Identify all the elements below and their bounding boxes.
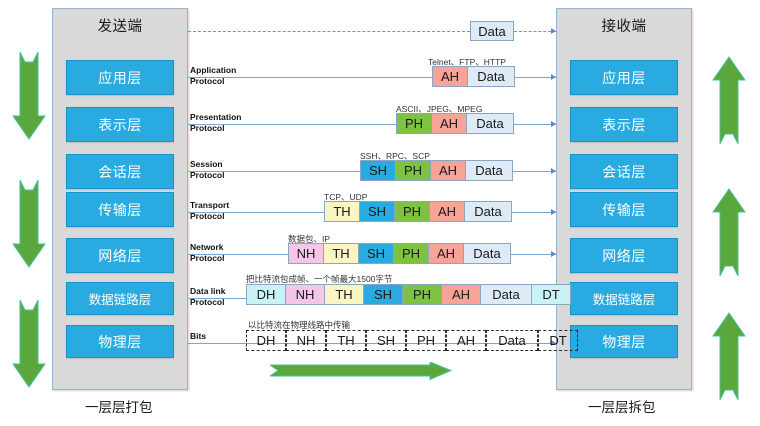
receiver-layer-presentation[interactable]: 表示层 (570, 107, 678, 142)
pdu-cell-data: Data (467, 66, 515, 87)
top-virtual-link-line (188, 31, 470, 32)
pdu-cell-ph-label: PH (405, 116, 423, 131)
encapsulation-arrow-down-3 (12, 300, 46, 388)
pdu-cell-sh: SH (359, 201, 395, 222)
pdu-cell-ah: AH (432, 66, 468, 87)
sender-layer-session[interactable]: 会话层 (66, 154, 174, 189)
pdu-cell-ph: PH (394, 201, 430, 222)
physical-bits-label: Bits (190, 331, 206, 342)
pdu-cell-data-label: Data (492, 287, 519, 302)
application-pdu-row: AH Data (432, 66, 514, 87)
pdu-cell-data: Data (464, 201, 512, 222)
pdu-cell-dh: DH (246, 330, 286, 351)
transport-protocol-label: Transport Protocol (190, 200, 229, 221)
receiver-layer-application-label: 应用层 (602, 68, 646, 88)
pdu-cell-th: TH (326, 330, 366, 351)
top-virtual-link-arrowhead (551, 28, 556, 34)
pdu-cell-data: Data (463, 243, 511, 264)
sender-layer-physical[interactable]: 物理层 (66, 325, 174, 358)
sender-layer-presentation-label: 表示层 (98, 115, 142, 135)
pdu-cell-ph: PH (406, 330, 446, 351)
pdu-cell-dh-label: DH (257, 287, 276, 302)
pdu-cell-data: Data (466, 113, 514, 134)
network-protocol-arrowhead (551, 251, 556, 257)
receiver-caption: 一层层拆包 (588, 396, 656, 416)
presentation-protocol-label: Presentation Protocol (190, 112, 242, 133)
pdu-cell-ah-label: AH (439, 163, 457, 178)
datalink-pdu-row: DH NH TH SH PH AH Data DT (246, 284, 570, 305)
pdu-cell-ah: AH (441, 284, 481, 305)
physical-bits-line1: Bits (190, 331, 206, 342)
top-data-label: Data (478, 24, 505, 39)
pdu-cell-ph-label: PH (413, 287, 431, 302)
transport-protocol-line2: Protocol (190, 211, 229, 222)
pdu-cell-th-label: TH (337, 333, 354, 348)
pdu-cell-sh: SH (358, 243, 394, 264)
pdu-cell-ph: PH (396, 113, 432, 134)
top-virtual-link-line-right (514, 31, 556, 32)
pdu-cell-sh-label: SH (367, 246, 385, 261)
datalink-protocol-label: Data link Protocol (190, 286, 225, 307)
pdu-cell-data-label: Data (473, 246, 500, 261)
receiver-layer-presentation-label: 表示层 (602, 115, 646, 135)
pdu-cell-dh-label: DH (257, 333, 276, 348)
transport-protocol-arrowhead (551, 209, 556, 215)
datalink-annotation: 把比特流包成帧、一个帧最大1500字节 (246, 274, 392, 284)
pdu-cell-data-label: Data (474, 204, 501, 219)
pdu-cell-data: Data (465, 160, 513, 181)
sender-title: 发送端 (53, 15, 187, 36)
pdu-cell-nh-label: NH (297, 333, 316, 348)
receiver-layer-datalink[interactable]: 数据链路层 (570, 282, 678, 315)
pdu-cell-ah: AH (430, 160, 466, 181)
pdu-cell-ph-label: PH (404, 163, 422, 178)
top-data-box: Data (470, 21, 514, 41)
transmission-direction-arrow (270, 362, 452, 380)
network-protocol-line1: Network (190, 242, 224, 253)
pdu-cell-ph: PH (402, 284, 442, 305)
pdu-cell-th-label: TH (335, 287, 352, 302)
receiver-layer-session-label: 会话层 (602, 162, 646, 182)
pdu-cell-sh: SH (366, 330, 406, 351)
pdu-cell-nh: NH (288, 243, 324, 264)
session-pdu-row: SH PH AH Data (360, 160, 512, 181)
pdu-cell-ah-label: AH (441, 69, 459, 84)
pdu-cell-ah-label: AH (452, 287, 470, 302)
receiver-layer-datalink-label: 数据链路层 (593, 289, 656, 308)
network-protocol-label: Network Protocol (190, 242, 224, 263)
pdu-cell-nh-label: NH (296, 287, 315, 302)
application-protocol-line2: Protocol (190, 76, 236, 87)
sender-layer-presentation[interactable]: 表示层 (66, 107, 174, 142)
pdu-cell-sh: SH (360, 160, 396, 181)
pdu-cell-ah-label: AH (438, 204, 456, 219)
sender-layer-network-label: 网络层 (98, 246, 142, 266)
pdu-cell-nh: NH (285, 284, 325, 305)
encapsulation-arrow-down-1 (12, 52, 46, 140)
presentation-protocol-line2: Protocol (190, 123, 242, 134)
sender-layer-physical-label: 物理层 (98, 332, 142, 352)
pdu-cell-th: TH (323, 243, 359, 264)
receiver-layer-session[interactable]: 会话层 (570, 154, 678, 189)
pdu-cell-th-label: TH (332, 246, 349, 261)
pdu-cell-ah: AH (446, 330, 486, 351)
session-protocol-line1: Session (190, 159, 224, 170)
pdu-cell-ah-label: AH (437, 246, 455, 261)
sender-layer-application-label: 应用层 (98, 68, 142, 88)
application-protocol-line1: Application (190, 65, 236, 76)
pdu-cell-nh-label: NH (297, 246, 316, 261)
pdu-cell-dt-label: DT (549, 333, 566, 348)
pdu-cell-ah-label: AH (440, 116, 458, 131)
network-protocol-line2: Protocol (190, 253, 224, 264)
datalink-protocol-line1: Data link (190, 286, 225, 297)
pdu-cell-ph: PH (395, 160, 431, 181)
pdu-cell-ah-label: AH (457, 333, 475, 348)
decapsulation-arrow-up-3 (712, 312, 746, 400)
decapsulation-arrow-up-2 (712, 188, 746, 276)
decapsulation-arrow-up-1 (712, 56, 746, 144)
receiver-layer-physical-label: 物理层 (602, 332, 646, 352)
pdu-cell-th: TH (324, 284, 364, 305)
pdu-cell-data-label: Data (476, 116, 503, 131)
sender-layer-datalink[interactable]: 数据链路层 (66, 282, 174, 315)
receiver-layer-physical[interactable]: 物理层 (570, 325, 678, 358)
sender-layer-application[interactable]: 应用层 (66, 60, 174, 95)
pdu-cell-ah: AH (429, 201, 465, 222)
session-protocol-arrowhead (551, 168, 556, 174)
pdu-cell-sh-label: SH (369, 163, 387, 178)
session-protocol-label: Session Protocol (190, 159, 224, 180)
osi-encapsulation-diagram: 发送端 应用层 表示层 会话层 传输层 网络层 数据链路层 物理层 一层层打包 … (0, 0, 760, 426)
pdu-cell-data-label: Data (475, 163, 502, 178)
pdu-cell-ph-label: PH (402, 246, 420, 261)
pdu-cell-ph: PH (393, 243, 429, 264)
pdu-cell-data-label: Data (498, 333, 525, 348)
datalink-protocol-line2: Protocol (190, 297, 225, 308)
pdu-cell-nh: NH (286, 330, 326, 351)
pdu-cell-sh-label: SH (377, 333, 395, 348)
pdu-cell-dt-label: DT (542, 287, 559, 302)
pdu-cell-ah: AH (431, 113, 467, 134)
sender-layer-datalink-label: 数据链路层 (89, 289, 152, 308)
pdu-cell-sh: SH (363, 284, 403, 305)
encapsulation-arrow-down-2 (12, 180, 46, 268)
session-protocol-line2: Protocol (190, 170, 224, 181)
pdu-cell-dh: DH (246, 284, 286, 305)
receiver-layer-transport-label: 传输层 (602, 200, 646, 220)
physical-annotation: 以比特流在物理线路中传输 (248, 320, 350, 330)
pdu-cell-data: Data (480, 284, 532, 305)
receiver-title: 接收端 (557, 15, 691, 36)
sender-layer-transport-label: 传输层 (98, 200, 142, 220)
pdu-cell-dt: DT (538, 330, 578, 351)
pdu-cell-data: Data (486, 330, 538, 351)
pdu-cell-th-label: TH (333, 204, 350, 219)
pdu-cell-data-label: Data (477, 69, 504, 84)
sender-caption: 一层层打包 (85, 396, 153, 416)
sender-layer-transport[interactable]: 传输层 (66, 192, 174, 227)
receiver-layer-transport[interactable]: 传输层 (570, 192, 678, 227)
presentation-pdu-row: PH AH Data (396, 113, 513, 134)
pdu-cell-sh-label: SH (374, 287, 392, 302)
network-pdu-row: NH TH SH PH AH Data (288, 243, 510, 264)
pdu-cell-sh-label: SH (368, 204, 386, 219)
pdu-cell-dt: DT (531, 284, 571, 305)
pdu-cell-ph-label: PH (403, 204, 421, 219)
application-protocol-arrowhead (551, 74, 556, 80)
physical-pdu-row: DH NH TH SH PH AH Data DT (246, 330, 578, 351)
transport-protocol-line1: Transport (190, 200, 229, 211)
application-protocol-label: Application Protocol (190, 65, 236, 86)
receiver-layer-application[interactable]: 应用层 (570, 60, 678, 95)
presentation-protocol-arrowhead (551, 121, 556, 127)
receiver-layer-network-label: 网络层 (602, 246, 646, 266)
pdu-cell-ph-label: PH (417, 333, 435, 348)
sender-layer-session-label: 会话层 (98, 162, 142, 182)
presentation-protocol-line1: Presentation (190, 112, 242, 123)
pdu-cell-ah: AH (428, 243, 464, 264)
pdu-cell-th: TH (324, 201, 360, 222)
receiver-layer-network[interactable]: 网络层 (570, 238, 678, 273)
transport-pdu-row: TH SH PH AH Data (324, 201, 511, 222)
sender-layer-network[interactable]: 网络层 (66, 238, 174, 273)
